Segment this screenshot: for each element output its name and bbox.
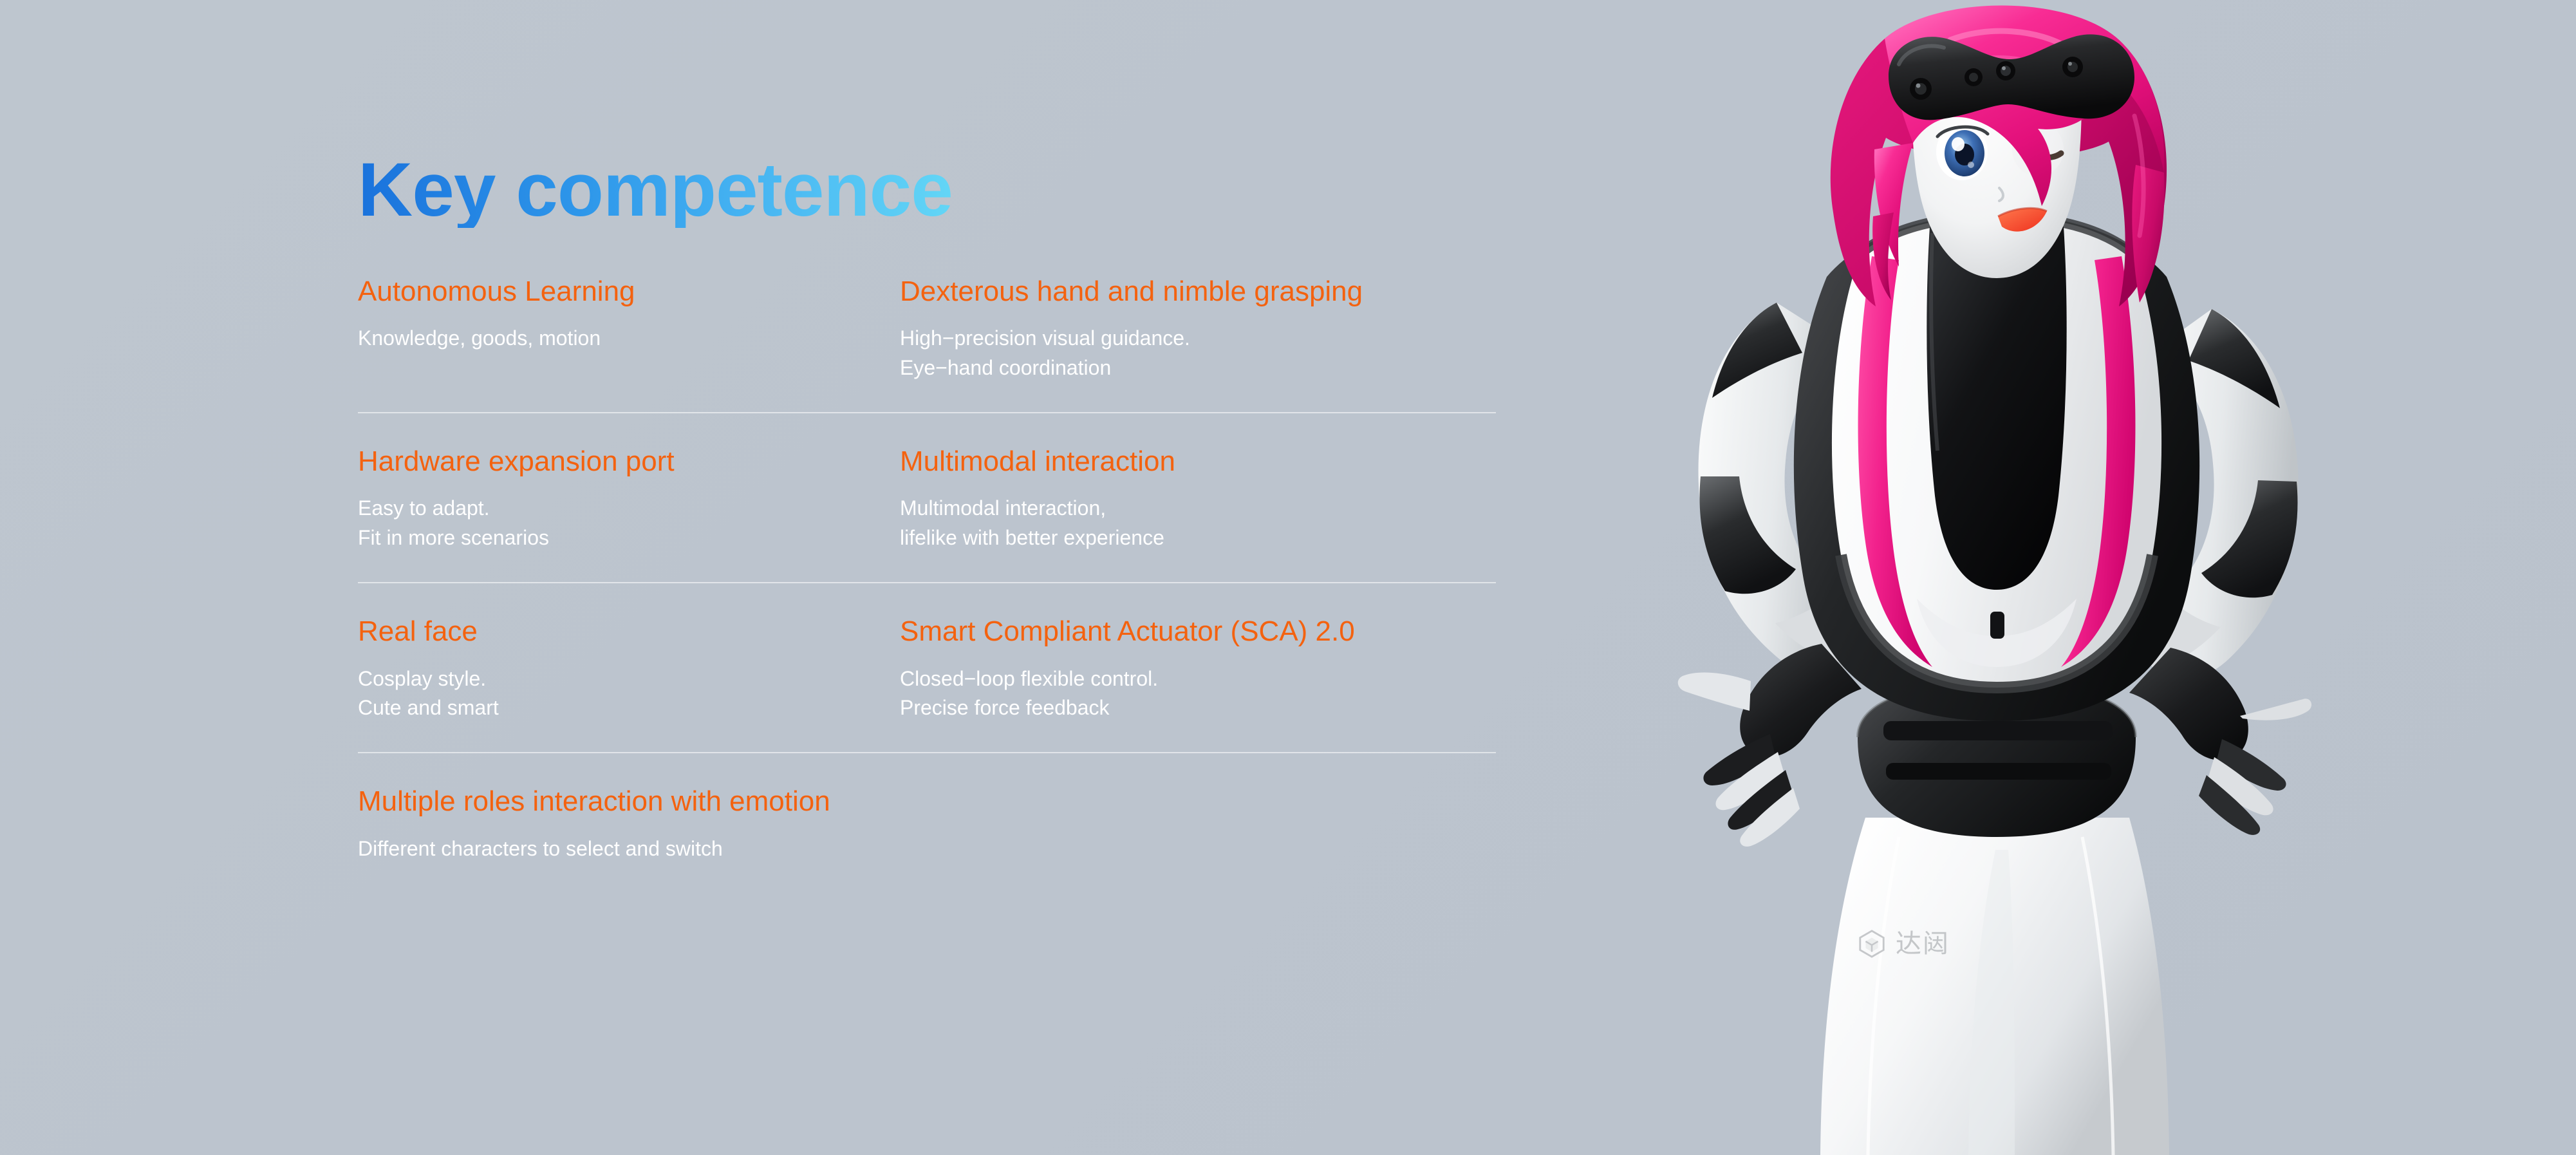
robot-arm-right	[2143, 309, 2299, 680]
robot-hair-front	[1872, 6, 2165, 303]
robot-hand-right	[2129, 648, 2311, 835]
robot-legs	[1820, 818, 2169, 1155]
brand-watermark-text: 达闼	[1896, 931, 1950, 957]
feature-title: Real face	[358, 615, 900, 647]
feature-item-dexterous-hand: Dexterous hand and nimble grasping High−…	[900, 276, 1496, 382]
feature-row: Real face Cosplay style. Cute and smart …	[358, 615, 1496, 753]
robot-sensor-visor	[1889, 34, 2134, 120]
feature-row: Autonomous Learning Knowledge, goods, mo…	[358, 276, 1496, 413]
feature-title: Multiple roles interaction with emotion	[358, 785, 1496, 817]
robot-fingers-left	[1678, 672, 1800, 846]
feature-row: Hardware expansion port Easy to adapt. F…	[358, 446, 1496, 583]
feature-item-autonomous-learning: Autonomous Learning Knowledge, goods, mo…	[358, 276, 900, 382]
robot-eye-wink	[2012, 122, 2064, 176]
robot-hand-left	[1678, 644, 1862, 847]
robot-fingers-right	[2199, 699, 2311, 835]
cube-logo-icon	[1857, 929, 1887, 959]
robot-arm-left	[1699, 303, 1860, 676]
robot-eye-open	[1936, 124, 1988, 180]
feature-title: Smart Compliant Actuator (SCA) 2.0	[900, 615, 1496, 647]
feature-title: Dexterous hand and nimble grasping	[900, 276, 1496, 307]
slide-root: Key competence Autonomous Learning Knowl…	[0, 0, 2576, 1155]
feature-description: Different characters to select and switc…	[358, 834, 1496, 863]
feature-item-multiple-roles-interaction: Multiple roles interaction with emotion …	[358, 785, 1496, 863]
feature-description: Easy to adapt. Fit in more scenarios	[358, 494, 900, 552]
feature-item-real-face: Real face Cosplay style. Cute and smart	[358, 615, 900, 722]
feature-title: Autonomous Learning	[358, 276, 900, 307]
robot-torso	[1794, 214, 2199, 721]
content-panel: Key competence Autonomous Learning Knowl…	[358, 152, 1517, 863]
robot-pelvis	[1858, 682, 2136, 837]
feature-item-hardware-expansion-port: Hardware expansion port Easy to adapt. F…	[358, 446, 900, 552]
feature-item-multimodal-interaction: Multimodal interaction Multimodal intera…	[900, 446, 1496, 552]
feature-description: Cosplay style. Cute and smart	[358, 664, 900, 723]
robot-illustration	[1500, 0, 2576, 1155]
brand-watermark: 达闼	[1857, 929, 1950, 959]
feature-item-smart-compliant-actuator: Smart Compliant Actuator (SCA) 2.0 Close…	[900, 615, 1496, 722]
feature-description: Closed−loop flexible control. Precise fo…	[900, 664, 1496, 723]
feature-description: Multimodal interaction, lifelike with be…	[900, 494, 1496, 552]
feature-description: Knowledge, goods, motion	[358, 324, 900, 353]
feature-title: Hardware expansion port	[358, 446, 900, 477]
robot-shoulder-trim	[1829, 233, 1927, 309]
feature-row: Multiple roles interaction with emotion …	[358, 785, 1496, 863]
page-title: Key competence	[358, 152, 953, 228]
feature-title: Multimodal interaction	[900, 446, 1496, 477]
robot-face	[1912, 19, 2082, 278]
robot-hair-back	[1831, 6, 2167, 306]
feature-list: Autonomous Learning Knowledge, goods, mo…	[358, 276, 1496, 863]
feature-description: High−precision visual guidance. Eye−hand…	[900, 324, 1496, 382]
robot-neck	[1937, 152, 2056, 273]
